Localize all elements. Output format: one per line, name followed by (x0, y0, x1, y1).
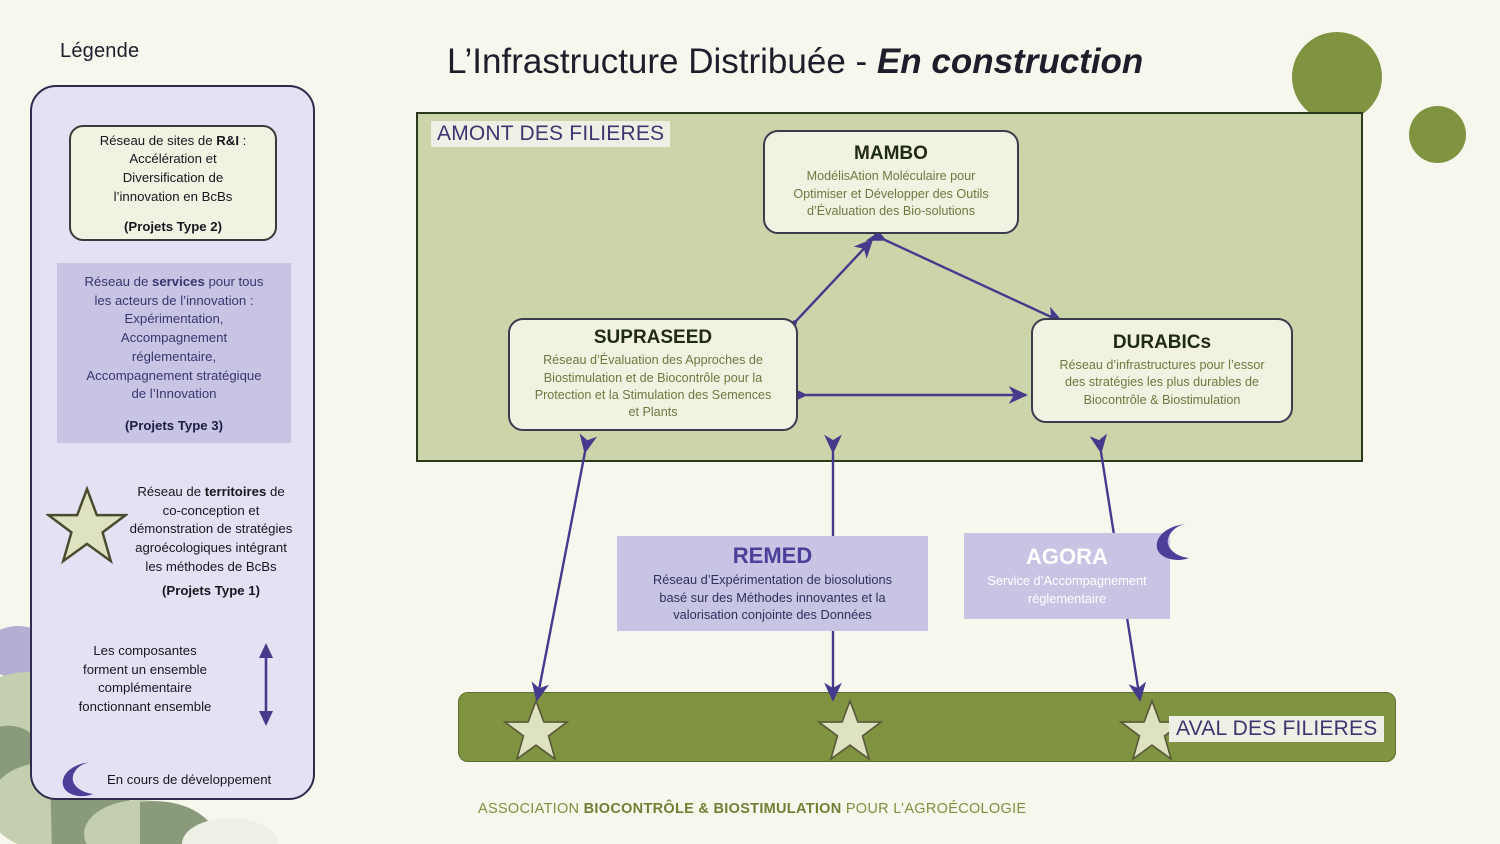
association-footer: ASSOCIATION BIOCONTRÔLE & BIOSTIMULATION… (478, 801, 1026, 817)
page-title-regular: L’Infrastructure Distribuée - (447, 42, 877, 81)
legend-type3-text: Réseau de services pour tous les acteurs… (85, 273, 264, 404)
legend-type2-line2: Accélération et (129, 151, 216, 166)
node-mambo-description: ModélisAtion Moléculaire pour Optimiser … (793, 168, 988, 220)
legend-type1-text: Réseau de territoires de co-conception e… (118, 483, 304, 577)
legend-type3-project: (Projets Type 3) (125, 418, 223, 433)
double-arrow-icon (246, 642, 286, 727)
legend-type3-line6: Accompagnement stratégique (86, 368, 261, 383)
node-durabics-desc-line3: Biocontrôle & Biostimulation (1084, 393, 1241, 407)
legend-panel: Réseau de sites de R&I : Accélération et… (30, 85, 315, 800)
service-remed-desc-line1: Réseau d’Expérimentation de biosolutions (653, 572, 892, 587)
legend-item-in-development[interactable]: En cours de développement (57, 757, 307, 801)
node-durabics-desc-line2: des stratégies les plus durables de (1065, 375, 1259, 389)
legend-type3-line4: Accompagnement (121, 330, 227, 345)
legend-type1-line3: démonstration de stratégies (130, 521, 293, 536)
legend-type3-line1b: services (152, 274, 205, 289)
decorative-circle-large (1292, 32, 1382, 122)
legend-type2-line3: Diversification de (123, 170, 223, 185)
page-title: L’Infrastructure Distribuée - En constru… (447, 42, 1143, 82)
legend-type1-line1a: Réseau de (137, 484, 204, 499)
legend-type2-project: (Projets Type 2) (124, 219, 222, 234)
aval-des-filieres-label: AVAL DES FILIERES (1169, 716, 1384, 742)
service-remed-description: Réseau d’Expérimentation de biosolutions… (653, 571, 892, 625)
legend-type3-line1a: Réseau de (85, 274, 152, 289)
node-mambo-title: MAMBO (854, 143, 928, 165)
service-agora-title: AGORA (1026, 544, 1108, 570)
legend-complementarity-line4: fonctionnant ensemble (79, 699, 212, 714)
legend-type2-line1a: Réseau de sites de (100, 133, 217, 148)
legend-item-type2[interactable]: Réseau de sites de R&I : Accélération et… (69, 125, 277, 241)
node-supraseed-desc-line4: et Plants (628, 405, 677, 419)
star-icon (46, 485, 128, 565)
page-title-italic: En construction (877, 42, 1143, 81)
star-icon (817, 698, 883, 762)
node-durabics-desc-line1: Réseau d’infrastructures pour l’essor (1059, 358, 1264, 372)
decorative-circle-small (1409, 106, 1466, 163)
star-icon (503, 698, 569, 762)
node-supraseed-desc-line1: Réseau d’Évaluation des Approches de (543, 353, 763, 367)
node-mambo-desc-line1: ModélisAtion Moléculaire pour (807, 169, 976, 183)
legend-type1-project: (Projets Type 1) (118, 583, 304, 598)
node-supraseed-desc-line3: Protection et la Stimulation des Semence… (535, 388, 772, 402)
node-supraseed[interactable]: SUPRASEED Réseau d’Évaluation des Approc… (508, 318, 798, 431)
association-bold: BIOCONTRÔLE & BIOSTIMULATION (584, 801, 842, 817)
node-mambo-desc-line3: d’Évaluation des Bio-solutions (807, 204, 975, 218)
legend-complementarity-line2: forment un ensemble (83, 662, 207, 677)
legend-item-type1[interactable]: Réseau de territoires de co-conception e… (46, 477, 304, 627)
legend-type1-line5: les méthodes de BcBs (145, 559, 276, 574)
legend-type2-line1b: R&I (216, 133, 239, 148)
service-remed-desc-line3: valorisation conjointe des Données (673, 607, 871, 622)
legend-type1-line4: agroécologiques intégrant (135, 540, 287, 555)
service-agora-desc-line1: Service d’Accompagnement (987, 573, 1146, 588)
legend-item-complementarity: Les composantes forment un ensemble comp… (54, 642, 294, 732)
legend-type2-line1c: : (239, 133, 246, 148)
amont-des-filieres-label: AMONT DES FILIERES (431, 121, 670, 147)
legend-complementarity-text: Les composantes forment un ensemble comp… (54, 642, 236, 717)
node-supraseed-description: Réseau d’Évaluation des Approches de Bio… (535, 352, 772, 422)
node-supraseed-desc-line2: Biostimulation et de Biocontrôle pour la (544, 371, 762, 385)
association-prefix: ASSOCIATION (478, 801, 584, 817)
legend-title: Légende (60, 40, 139, 63)
legend-complementarity-line3: complémentaire (98, 680, 192, 695)
service-agora-desc-line2: réglementaire (1028, 591, 1106, 606)
legend-type1-line1b: territoires (205, 484, 267, 499)
legend-complementarity-line1: Les composantes (93, 643, 196, 658)
legend-type1-line1c: de (266, 484, 284, 499)
node-supraseed-title: SUPRASEED (594, 327, 712, 349)
service-remed[interactable]: REMED Réseau d’Expérimentation de biosol… (617, 536, 928, 631)
legend-type3-line5: réglementaire, (132, 349, 216, 364)
node-mambo[interactable]: MAMBO ModélisAtion Moléculaire pour Opti… (763, 130, 1019, 234)
legend-type2-text: Réseau de sites de R&I : Accélération et… (100, 132, 247, 207)
node-durabics-title: DURABICs (1113, 332, 1211, 354)
crescent-moon-icon (1150, 521, 1196, 563)
service-agora[interactable]: AGORA Service d’Accompagnement réglement… (964, 533, 1170, 619)
legend-type2-line4: l’innovation en BcBs (114, 189, 233, 204)
legend-type3-line7: de l’Innovation (131, 386, 216, 401)
legend-item-type3[interactable]: Réseau de services pour tous les acteurs… (57, 263, 291, 443)
node-durabics[interactable]: DURABICs Réseau d’infrastructures pour l… (1031, 318, 1293, 423)
node-durabics-description: Réseau d’infrastructures pour l’essor de… (1059, 357, 1264, 409)
legend-type3-line3: Expérimentation, (125, 311, 224, 326)
legend-in-development-label: En cours de développement (107, 772, 271, 787)
service-agora-description: Service d’Accompagnement réglementaire (987, 572, 1146, 608)
node-mambo-desc-line2: Optimiser et Développer des Outils (793, 187, 988, 201)
service-remed-title: REMED (733, 543, 812, 569)
association-suffix: POUR L’AGROÉCOLOGIE (842, 801, 1027, 817)
legend-type3-line1c: pour tous (205, 274, 264, 289)
legend-type1-line2: co-conception et (163, 503, 260, 518)
legend-type3-line2: les acteurs de l’innovation : (94, 293, 253, 308)
slide-canvas: Légende Réseau de sites de R&I : Accélér… (0, 0, 1500, 844)
crescent-moon-icon (57, 759, 101, 799)
service-remed-desc-line2: basé sur des Méthodes innovantes et la (659, 590, 885, 605)
